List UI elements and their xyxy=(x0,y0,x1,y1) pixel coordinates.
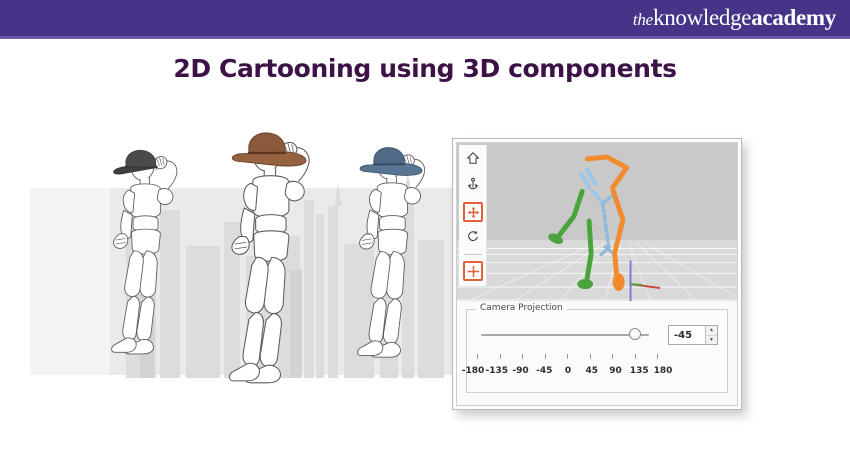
move-pivot-icon xyxy=(463,261,483,281)
slider-tick-label: -45 xyxy=(532,366,556,376)
home-icon xyxy=(466,151,480,170)
slider-tick xyxy=(522,354,523,359)
tool-anchor[interactable] xyxy=(459,173,487,199)
camera-projection-legend: Camera Projection xyxy=(476,303,567,313)
move-icon xyxy=(463,202,483,222)
logo-text-the: the xyxy=(633,10,653,29)
spinner-up-icon[interactable]: ▲ xyxy=(706,326,717,336)
mannequin-left xyxy=(112,150,177,354)
slider-tick xyxy=(590,354,591,359)
page-title: 2D Cartooning using 3D components xyxy=(0,54,850,83)
slider-tick-label: -180 xyxy=(461,366,485,376)
slider-tick xyxy=(612,354,613,359)
slider-ticks xyxy=(477,354,657,360)
camera-projection-slider-row[interactable]: -45 ▲ ▼ xyxy=(477,324,719,346)
animation-app-panel[interactable]: Camera Projection -45 ▲ ▼ -180-135-90-45… xyxy=(452,138,742,410)
panel-inner: Camera Projection -45 ▲ ▼ -180-135-90-45… xyxy=(456,142,738,406)
camera-projection-group: Camera Projection -45 ▲ ▼ -180-135-90-45… xyxy=(466,309,728,393)
spinner-down-icon[interactable]: ▼ xyxy=(706,336,717,345)
slider-tick-label: 135 xyxy=(627,366,651,376)
slider-tick xyxy=(477,354,478,359)
rotate-icon xyxy=(466,229,480,248)
slider-tick-label: 0 xyxy=(556,366,580,376)
camera-projection-spinbox[interactable]: -45 ▲ ▼ xyxy=(668,325,718,345)
viewport-contents xyxy=(457,143,737,301)
logo-text-academy: academy xyxy=(751,5,836,30)
slider-thumb[interactable] xyxy=(629,328,641,340)
slider-tick xyxy=(635,354,636,359)
slider-tick xyxy=(567,354,568,359)
brand-logo[interactable]: theknowledgeacademy xyxy=(633,4,836,34)
tool-home[interactable] xyxy=(459,147,487,173)
tool-move-pivot[interactable] xyxy=(459,258,487,284)
anchor-icon xyxy=(466,177,480,196)
slider-tick-label: 180 xyxy=(651,366,675,376)
viewport-toolbar[interactable] xyxy=(459,145,487,286)
logo-text-knowledge: knowledge xyxy=(653,5,751,30)
slider-tick-label: 90 xyxy=(604,366,628,376)
header-underline xyxy=(0,36,850,39)
camera-projection-value[interactable]: -45 xyxy=(669,326,705,344)
mannequin-right xyxy=(358,148,425,358)
slider-tick xyxy=(545,354,546,359)
illustration-stage: Camera Projection -45 ▲ ▼ -180-135-90-45… xyxy=(0,110,850,420)
toolbar-separator xyxy=(464,254,482,255)
tool-rotate[interactable] xyxy=(459,225,487,251)
slider-tick-label: -135 xyxy=(485,366,509,376)
slider-tick-label: 45 xyxy=(580,366,604,376)
mannequin-center xyxy=(230,133,310,383)
tool-translate[interactable] xyxy=(459,199,487,225)
slider-tick xyxy=(500,354,501,359)
slider-tick-labels: -180-135-90-4504590135180 xyxy=(473,366,663,380)
slider-tick-label: -90 xyxy=(509,366,533,376)
mannequin-figures xyxy=(0,110,480,420)
slider-tick xyxy=(657,354,658,359)
viewport-3d[interactable] xyxy=(457,143,737,301)
spinner-buttons[interactable]: ▲ ▼ xyxy=(705,326,717,344)
slider-track[interactable] xyxy=(481,334,649,336)
